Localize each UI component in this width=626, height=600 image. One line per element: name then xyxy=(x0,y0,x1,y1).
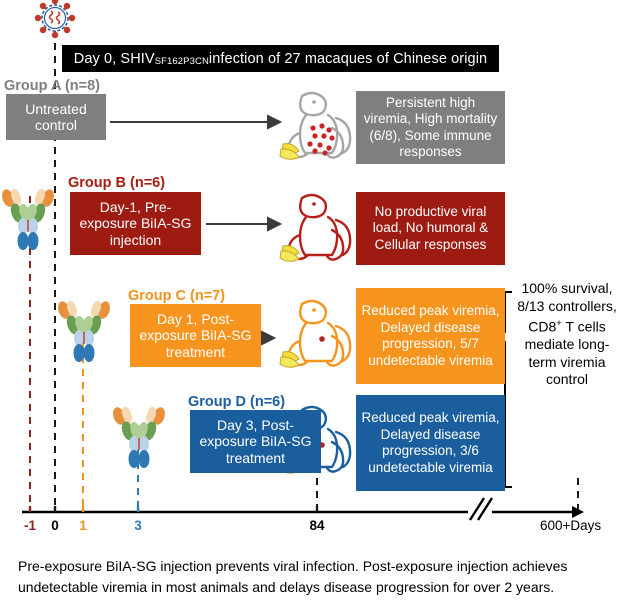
virus-particle-icon xyxy=(35,0,74,38)
group-d-outcome-box: Reduced peak viremia, Delayed disease pr… xyxy=(356,395,505,491)
banana-icon xyxy=(280,144,299,160)
combined-outcome-note: 100% survival, 8/13 controllers, CD8+ T … xyxy=(512,280,622,389)
group-d-treatment-box: Day 3, Post-exposure BiIA-SG treatment xyxy=(190,410,321,473)
group-b-label: Group B (n=6) xyxy=(68,175,165,191)
banana-icon xyxy=(280,352,299,368)
flow-arrow-group-c xyxy=(262,332,274,344)
group-a-treatment-box: Untreated control xyxy=(6,94,106,140)
macaque-icon-group-b xyxy=(280,195,350,261)
infection-banner: Day 0, SHIVSF162P3CN infection of 27 mac… xyxy=(62,45,499,72)
group-b-treatment-box: Day-1, Pre-exposure BiIA-SG injection xyxy=(70,192,201,255)
macaque-icon-group-c xyxy=(280,301,350,367)
bispecific-antibody-icon-c xyxy=(56,300,112,362)
axis-tick-label-day-3: 3 xyxy=(118,518,158,533)
axis-tick-label-day-1: 1 xyxy=(63,518,103,533)
axis-tick-label-day-84: 84 xyxy=(297,518,337,533)
banner-subscript: SF162P3CN xyxy=(155,56,209,67)
axis-end-label: 600+Days xyxy=(540,518,601,533)
bispecific-antibody-icon-b xyxy=(0,188,56,250)
macaque-icon-group-a xyxy=(280,93,350,159)
banner-suffix: infection of 27 macaques of Chinese orig… xyxy=(209,51,487,67)
study-design-figure: Day 0, SHIVSF162P3CN infection of 27 mac… xyxy=(0,0,626,600)
group-c-treatment-box: Day 1, Post-exposure BiIA-SG treatment xyxy=(130,304,261,367)
banner-prefix: Day 0, SHIV xyxy=(74,51,155,67)
flow-arrow-group-b xyxy=(206,218,280,230)
group-a-label: Group A (n=8) xyxy=(4,78,100,94)
flow-arrow-group-a xyxy=(110,116,280,128)
axis-break-icon xyxy=(470,498,492,520)
group-a-outcome-box: Persistent high viremia, High mortality … xyxy=(356,91,505,164)
bispecific-antibody-icon-d xyxy=(111,406,167,468)
group-c-label: Group C (n=7) xyxy=(128,288,225,304)
banana-icon xyxy=(280,246,299,262)
group-d-label: Group D (n=6) xyxy=(188,394,285,410)
group-b-outcome-box: No productive viral load, No humoral & C… xyxy=(356,192,505,265)
figure-caption: Pre-exposure BiIA-SG injection prevents … xyxy=(18,556,612,598)
group-c-outcome-box: Reduced peak viremia, Delayed disease pr… xyxy=(356,288,505,384)
